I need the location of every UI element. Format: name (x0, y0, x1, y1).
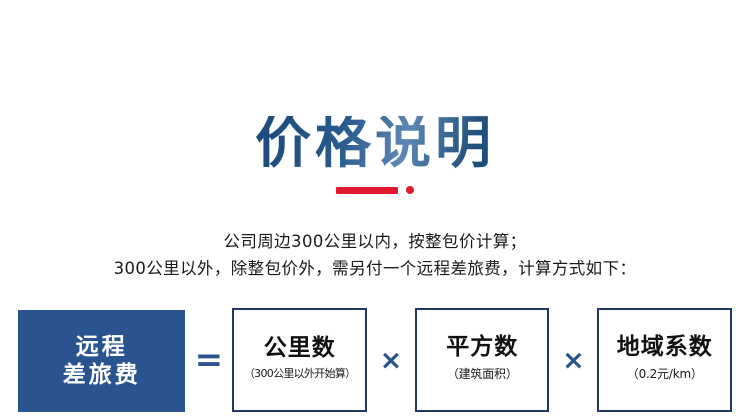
page-title: 价格说明 (255, 116, 495, 172)
multiply-operator-icon-1: × (367, 308, 415, 412)
formula-term-area: 平方数 （建筑面积） (415, 308, 550, 412)
formula-result-box: 远程 差旅费 (18, 310, 185, 412)
description-line-1: 公司周边300公里以内，按整包价计算； (0, 228, 750, 255)
term-area-label: 平方数 (446, 334, 518, 361)
term-kilometers-note: （300公里以外开始算） (244, 365, 356, 381)
price-description-page: 价格说明 公司周边300公里以内，按整包价计算； 300公里以外，除整包价外，需… (0, 0, 750, 416)
term-kilometers-label: 公里数 (264, 335, 336, 362)
description-line-2: 300公里以外，除整包价外，需另付一个远程差旅费，计算方式如下： (0, 255, 750, 282)
divider-dot (406, 186, 414, 194)
divider-bar (336, 187, 398, 194)
term-region-note: （0.2元/km） (627, 365, 703, 382)
formula-result-line-2: 差旅费 (63, 361, 141, 389)
formula-term-region-coefficient: 地域系数 （0.2元/km） (597, 308, 732, 412)
formula-term-kilometers: 公里数 （300公里以外开始算） (232, 308, 367, 412)
formula-result-line-1: 远程 (76, 333, 128, 361)
term-region-label: 地域系数 (617, 334, 713, 361)
multiply-operator-icon-2: × (549, 308, 597, 412)
title-divider (0, 185, 750, 195)
description-text: 公司周边300公里以内，按整包价计算； 300公里以外，除整包价外，需另付一个远… (0, 228, 750, 282)
formula-row: 远程 差旅费 = 公里数 （300公里以外开始算） × 平方数 （建筑面积） ×… (18, 308, 732, 412)
term-area-note: （建筑面积） (447, 365, 518, 382)
equals-operator-icon: = (185, 308, 232, 412)
